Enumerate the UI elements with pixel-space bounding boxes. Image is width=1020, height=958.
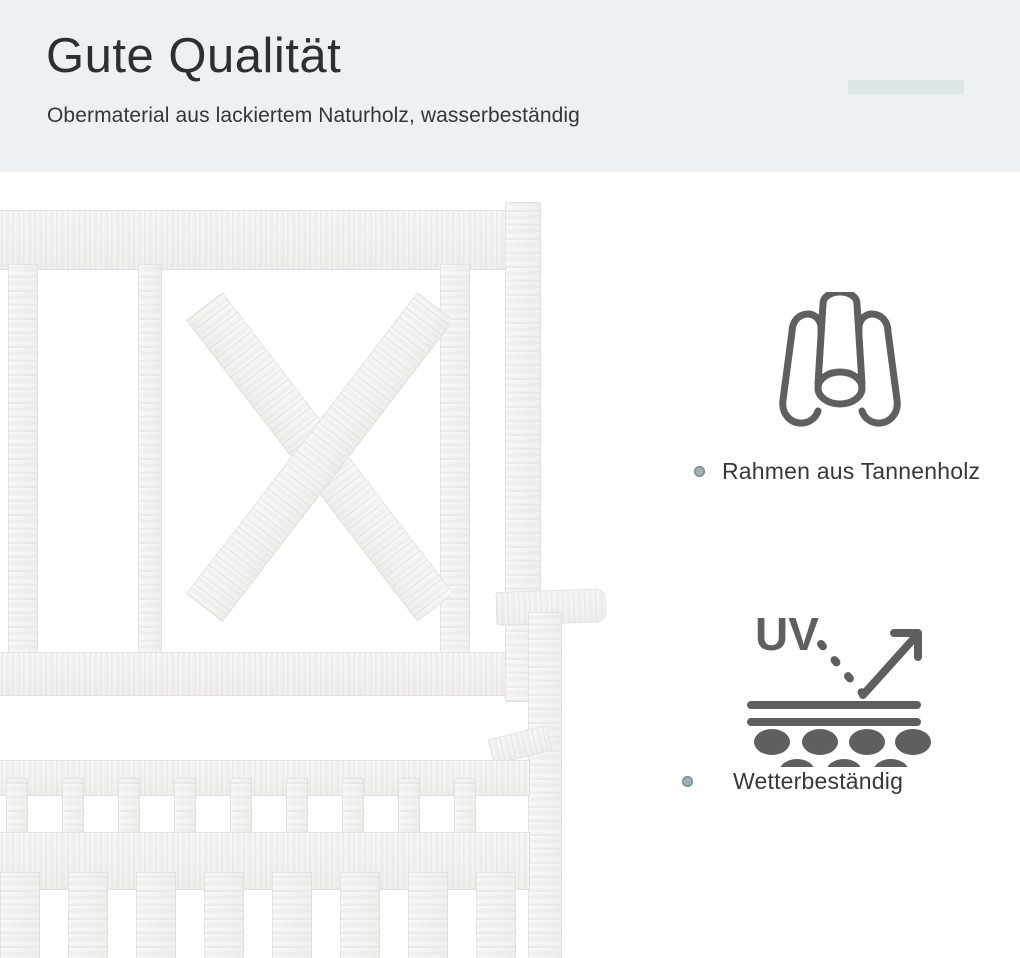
bench-lower-slat <box>0 872 40 958</box>
bench-lower-slat <box>408 872 448 958</box>
bullet-icon <box>682 776 693 787</box>
feature-label-frame-material: Rahmen aus Tannenholz <box>722 458 980 485</box>
bench-baluster <box>454 778 476 840</box>
feature-label-weather-resistance: Wetterbeständig <box>733 768 903 795</box>
bench-lower-slat <box>476 872 516 958</box>
feature-item-weather-resistance: UV <box>660 602 1020 795</box>
feature-label-row: Rahmen aus Tannenholz <box>660 458 1020 485</box>
bench-baluster <box>286 778 308 840</box>
bullet-icon <box>694 466 705 477</box>
bench-baluster <box>174 778 196 840</box>
product-photo <box>0 172 660 958</box>
bench-baluster <box>6 778 28 840</box>
feature-item-frame-material: Rahmen aus Tannenholz <box>660 292 1020 485</box>
page-title: Gute Qualität <box>46 28 341 84</box>
bench-lower-slat <box>272 872 312 958</box>
product-photo-bench <box>0 172 660 958</box>
page-subtitle: Obermaterial aus lackiertem Naturholz, w… <box>47 104 580 128</box>
bench-back-slat <box>8 264 38 656</box>
product-feature-banner: Gute Qualität Obermaterial aus lackierte… <box>0 0 1020 958</box>
bench-lower-slat <box>204 872 244 958</box>
bench-backrest-bottom-rail <box>0 652 510 696</box>
bench-baluster <box>230 778 252 840</box>
header-accent-bar <box>848 80 964 94</box>
bench-lower-slat <box>136 872 176 958</box>
feature-list: Rahmen aus Tannenholz UV <box>660 172 1020 958</box>
bench-baluster <box>398 778 420 840</box>
wood-logs-icon <box>660 292 1020 442</box>
bench-baluster <box>62 778 84 840</box>
bench-lower-slat-group <box>0 872 535 958</box>
bench-x-cross <box>150 264 450 658</box>
bench-backrest-top-rail <box>0 210 520 270</box>
uv-text-glyph: UV <box>755 608 819 660</box>
bench-lower-slat <box>340 872 380 958</box>
bench-baluster <box>118 778 140 840</box>
uv-resistance-icon: UV <box>660 602 1020 752</box>
feature-label-row: Wetterbeständig <box>660 768 1020 795</box>
header-band: Gute Qualität Obermaterial aus lackierte… <box>0 0 1020 172</box>
bench-lower-slat <box>68 872 108 958</box>
bench-baluster <box>342 778 364 840</box>
